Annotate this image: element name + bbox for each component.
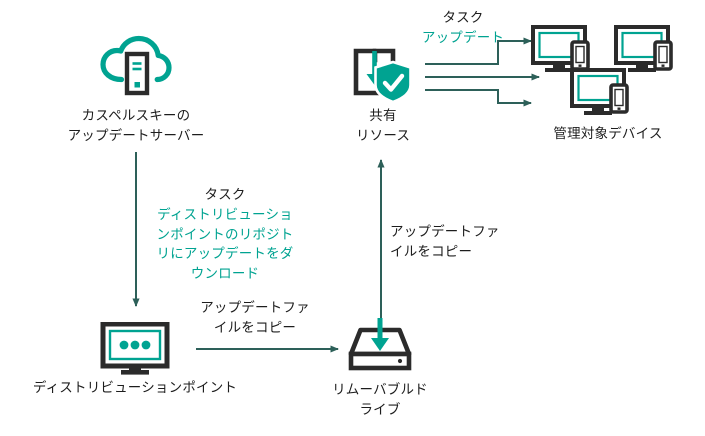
node-removable-drive: [344, 318, 416, 376]
edge-label-task-update-line2: アップデート: [398, 28, 528, 48]
device-icon-1: [533, 27, 588, 72]
shared-resource-shield-icon: [348, 42, 424, 106]
node-shared-resource: [348, 42, 424, 106]
node-managed-devices: [528, 24, 688, 116]
edge-label-task-download-body: ディストリビューショ ンポイントのリポジト リにアップデートをダ ウンロード: [150, 205, 300, 283]
edge-label-copy-files-to-shared-resource: アップデートファ イルをコピー: [390, 222, 540, 261]
removable-drive-icon: [344, 318, 416, 376]
node-distribution-point: [100, 322, 170, 376]
managed-devices-icon: [528, 24, 688, 116]
edge-label-task-download-line1: タスク: [150, 185, 300, 205]
edge-label-task-update-line1: タスク: [398, 8, 528, 28]
label-shared-resource: 共有 リソース: [320, 106, 446, 145]
label-managed-devices: 管理対象デバイス: [518, 124, 698, 144]
update-distribution-diagram: カスペルスキーの アップデートサーバー 共有 リソース: [0, 0, 705, 436]
label-kaspersky-update-server: カスペルスキーの アップデートサーバー: [36, 106, 236, 145]
cloud-server-icon: [96, 32, 174, 98]
device-icon-3: [572, 70, 627, 115]
distribution-point-monitor-icon: [100, 322, 170, 376]
arrow-shared-to-device-bottom: [425, 90, 531, 103]
label-removable-drive: リムーバブルド ライブ: [300, 380, 460, 419]
edge-label-copy-files-to-drive: アップデートファ イルをコピー: [180, 298, 330, 337]
device-icon-2: [616, 27, 671, 72]
node-kaspersky-update-server: [96, 32, 174, 98]
label-distribution-point: ディストリビューションポイント: [6, 378, 264, 398]
